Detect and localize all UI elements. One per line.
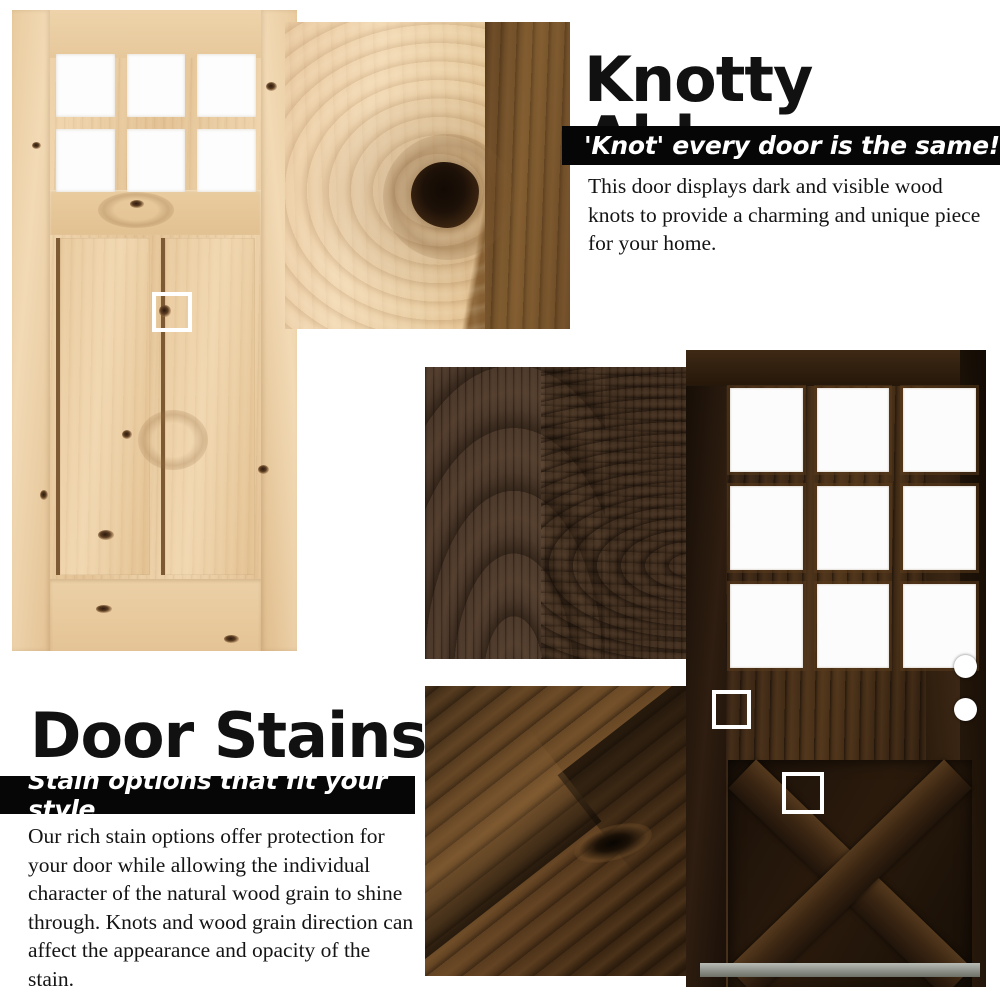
glass-lite [817,486,890,570]
stain-swatch-warm-photo [425,686,693,976]
wood-knot [98,530,114,540]
cross-buck-panel [728,760,972,987]
highlight-box-light-door-knot [152,292,192,332]
glass-lite [730,486,803,570]
glass-lite [730,388,803,472]
body-text-door-stains: Our rich stain options offer protection … [28,822,420,994]
wood-knot [224,635,239,643]
wood-knot [266,82,277,91]
subtitle-text-knotty-alder: 'Knot' every door is the same! [584,131,1000,160]
door-rail-top [686,350,986,386]
glass-lite [127,129,186,192]
glass-lite [56,129,115,192]
wood-knot-ring [138,410,208,470]
wood-knot [130,200,144,208]
glass-lite [903,486,976,570]
glass-lite [817,584,890,668]
door-glass-lites-9 [730,388,976,668]
wood-knot-closeup [411,162,479,228]
page-title-door-stains: Door Stains [30,706,426,766]
wood-knot [40,490,48,500]
glass-lite [127,54,186,117]
door-knob[interactable] [954,655,977,678]
wood-knot [96,605,112,613]
door-panel-area [56,238,255,575]
door-stile-left [12,10,50,651]
knot-closeup-photo [285,22,570,329]
subtitle-bar-knotty-alder: 'Knot' every door is the same! [562,126,1000,165]
door-glass-lites-6 [56,54,256,192]
glass-lite [197,129,256,192]
door-threshold [700,963,980,977]
stain-swatch-dark-photo [425,367,693,659]
door-stile-left [686,350,726,987]
flat-grain-overlay [541,367,693,659]
subtitle-bar-door-stains: Stain options that fit your style [0,776,415,814]
wood-knot [122,430,132,439]
wood-knot [258,465,269,474]
wood-knot-ring [98,192,174,228]
glass-lite [56,54,115,117]
dark-stained-door-photo [686,350,986,987]
subtitle-text-door-stains: Stain options that fit your style [28,766,415,824]
body-text-knotty-alder: This door displays dark and visible wood… [588,172,984,258]
highlight-box-dark-door-grain [712,690,751,729]
door-panel-right [161,238,255,575]
infographic-canvas: Knotty Alder 'Knot' every door is the sa… [0,0,1000,1000]
wood-knot [32,142,41,149]
glass-lite [730,584,803,668]
door-rail-top [50,10,261,58]
highlight-box-dark-door-knot [782,772,824,814]
glass-lite [903,388,976,472]
door-panel-left [56,238,150,575]
deadbolt[interactable] [954,698,977,721]
glass-lite [197,54,256,117]
glass-lite [817,388,890,472]
